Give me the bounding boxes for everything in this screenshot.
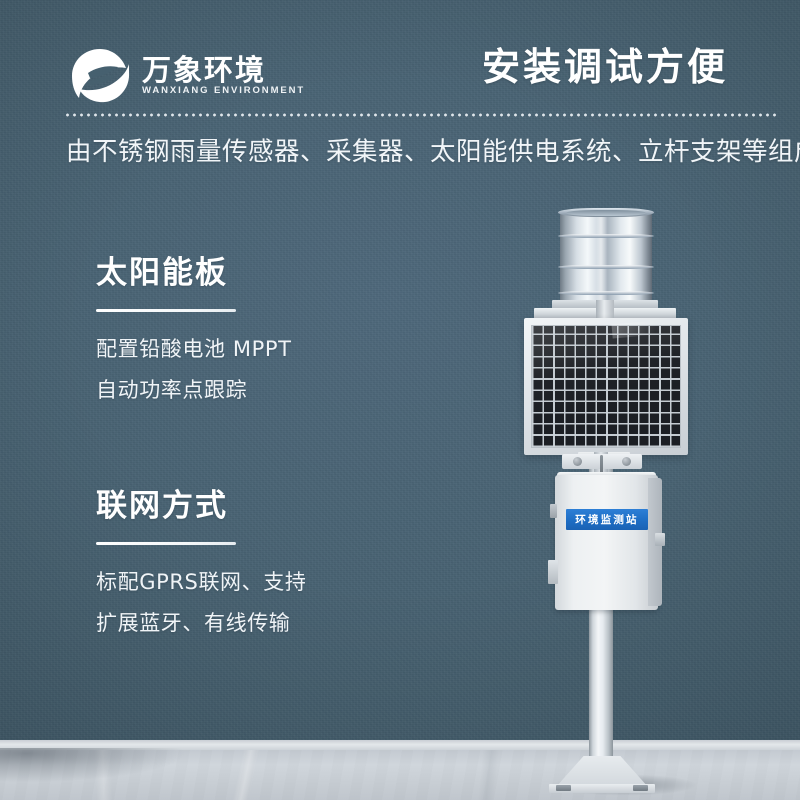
product-feature-poster: 万象环境 WANXIANG ENVIRONMENT 安装调试方便 由不锈钢雨量传…: [0, 0, 800, 800]
bracket-screw-left: [573, 457, 582, 466]
pole-base-plate: [556, 756, 648, 787]
rain-gauge-funnel: [566, 210, 646, 216]
enclosure-latch-right: [655, 533, 665, 546]
solar-panel-cells: [531, 325, 681, 448]
bracket-screw-right: [622, 457, 631, 466]
data-logger-enclosure: [555, 475, 658, 610]
enclosure-latch-top-left: [550, 504, 557, 518]
product-photo: 环境监测站: [0, 0, 800, 800]
solar-panel: [524, 318, 688, 455]
rain-gauge-band: [558, 234, 654, 238]
enclosure-latch-bottom-left: [548, 560, 558, 584]
rain-gauge-highlight: [596, 216, 607, 300]
anchor-bolt-right: [633, 785, 648, 791]
rain-gauge-band: [558, 265, 654, 269]
enclosure-label-text: 环境监测站: [575, 512, 639, 527]
anchor-bolt-left: [556, 785, 571, 791]
enclosure-label-plate: 环境监测站: [566, 509, 648, 530]
rain-gauge-band: [558, 291, 654, 295]
